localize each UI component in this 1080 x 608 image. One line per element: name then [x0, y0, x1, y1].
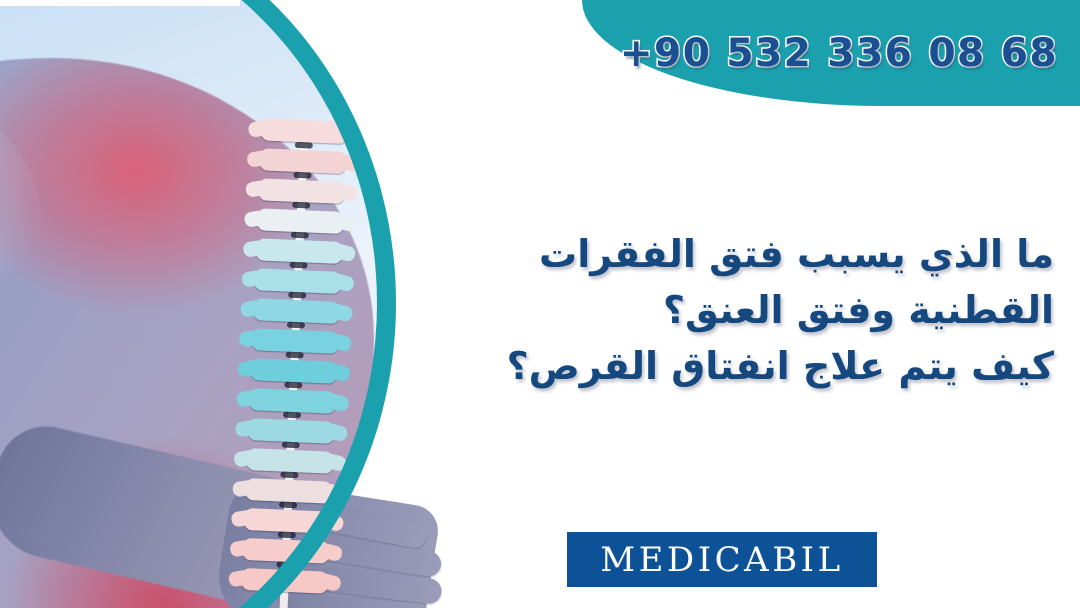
medicabil-logo[interactable]: MEDICABIL	[567, 532, 877, 587]
phone-banner[interactable]: +90 532 336 08 68	[582, 0, 1080, 106]
headline: ما الذي يسبب فتق الفقرات القطنية وفتق ال…	[404, 226, 1054, 395]
headline-line-2: القطنية وفتق العنق؟	[404, 282, 1054, 338]
logo-text: MEDICABIL	[600, 540, 843, 580]
headline-line-1: ما الذي يسبب فتق الفقرات	[404, 226, 1054, 282]
arc-top-mask	[0, 0, 240, 6]
phone-number[interactable]: +90 532 336 08 68	[620, 31, 1058, 76]
headline-line-3: كيف يتم علاج انفتاق القرص؟	[404, 338, 1054, 394]
poster-canvas: +90 532 336 08 68 ما الذي يسبب فتق الفقر…	[0, 0, 1080, 608]
